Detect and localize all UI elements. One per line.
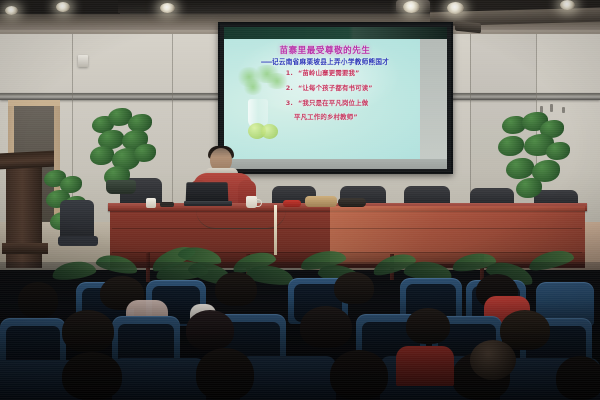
bullet-number: 2. (284, 84, 293, 92)
stage-side-chair-seat (58, 236, 98, 246)
list-item-continuation: 平凡工作的乡村教师” (284, 113, 419, 122)
wall-speaker-box (78, 55, 88, 67)
list-item: 2. “让每个孩子都有书可读” (284, 84, 419, 93)
wall-seam (172, 34, 173, 230)
audience-head (186, 310, 234, 350)
bullet-number: 1. (284, 69, 293, 77)
plant-leaf (546, 142, 570, 160)
list-item: 3. “我只是在平凡岗位上做 (284, 99, 419, 108)
audience-garment-red (396, 346, 454, 386)
cable (196, 210, 286, 229)
paper-bag-on-desk (305, 196, 337, 207)
dark-object-on-desk (338, 198, 366, 207)
desk-groove (112, 228, 582, 229)
wall-mark (550, 104, 553, 112)
audience-head-fur-hood (470, 340, 516, 380)
door-frame-top (8, 100, 60, 106)
plant-leaf (516, 178, 542, 198)
audience-head (556, 356, 600, 400)
ceiling-spotlight-icon (56, 2, 70, 12)
plant-leaf (90, 146, 114, 165)
plant-leaf (134, 144, 156, 162)
plant-leaf (506, 158, 534, 179)
ceiling-spotlight-icon (160, 3, 175, 13)
bullet-text-line2: 平凡工作的乡村教师” (294, 113, 358, 122)
audience-head (62, 310, 114, 352)
auditorium-seat[interactable] (240, 356, 336, 400)
potted-plant-right (496, 112, 572, 202)
audience-head (406, 308, 450, 344)
red-object-on-desk (283, 200, 301, 207)
projected-slide: 苗寨里最受尊敬的先生 ——记云南省麻栗坡县上弄小学教师熊国才 1. “苗岭山寨更… (224, 39, 420, 159)
bullet-text: “我只是在平凡岗位上做 (298, 99, 368, 108)
audience-head (196, 348, 254, 400)
small-mug-left[interactable] (146, 198, 156, 208)
plant-pot (106, 180, 136, 194)
plant-leaf (498, 136, 524, 156)
audience-head (18, 282, 58, 318)
slide-subtitle-text: 记云南省麻栗坡县上弄小学教师熊国才 (272, 58, 389, 66)
slide-title: 苗寨里最受尊敬的先生 (250, 44, 400, 56)
ceiling-spotlight-icon (447, 2, 464, 14)
fruit-shape (261, 124, 278, 139)
audience-head (334, 272, 374, 304)
lecture-hall-photo: 苗寨里最受尊敬的先生 ——记云南省麻栗坡县上弄小学教师熊国才 1. “苗岭山寨更… (0, 0, 600, 400)
slide-subtitle-dash: —— (261, 58, 272, 66)
bullet-number: 3. (284, 99, 293, 107)
audience-head (330, 350, 388, 400)
dark-object-left (160, 202, 174, 207)
open-laptop[interactable] (186, 182, 232, 208)
slide-subtitle: ——记云南省麻栗坡县上弄小学教师熊国才 (234, 56, 416, 66)
leaf-cluster (242, 79, 264, 95)
potted-plant-left (88, 108, 158, 186)
audience-head (215, 272, 257, 306)
screen-unlit-area (420, 39, 447, 169)
auditorium-seat[interactable] (112, 358, 206, 400)
laptop-screen (186, 182, 229, 203)
slide-bullet-list: 1. “苗岭山寨更需要我” 2. “让每个孩子都有书可读” 3. “我只是在平凡… (284, 69, 419, 128)
audience-head (300, 306, 352, 348)
lectern-top (0, 151, 54, 170)
audience-head (62, 352, 122, 400)
laptop-keyboard (184, 201, 232, 206)
bullet-text: “让每个孩子都有书可读” (298, 84, 373, 93)
bullet-text: “苗岭山寨更需要我” (298, 69, 360, 78)
ceiling-spotlight-icon (5, 6, 18, 15)
ceiling-spotlight-icon (560, 0, 575, 10)
list-item: 1. “苗岭山寨更需要我” (284, 69, 419, 78)
ceiling-spotlight-icon (403, 1, 420, 13)
